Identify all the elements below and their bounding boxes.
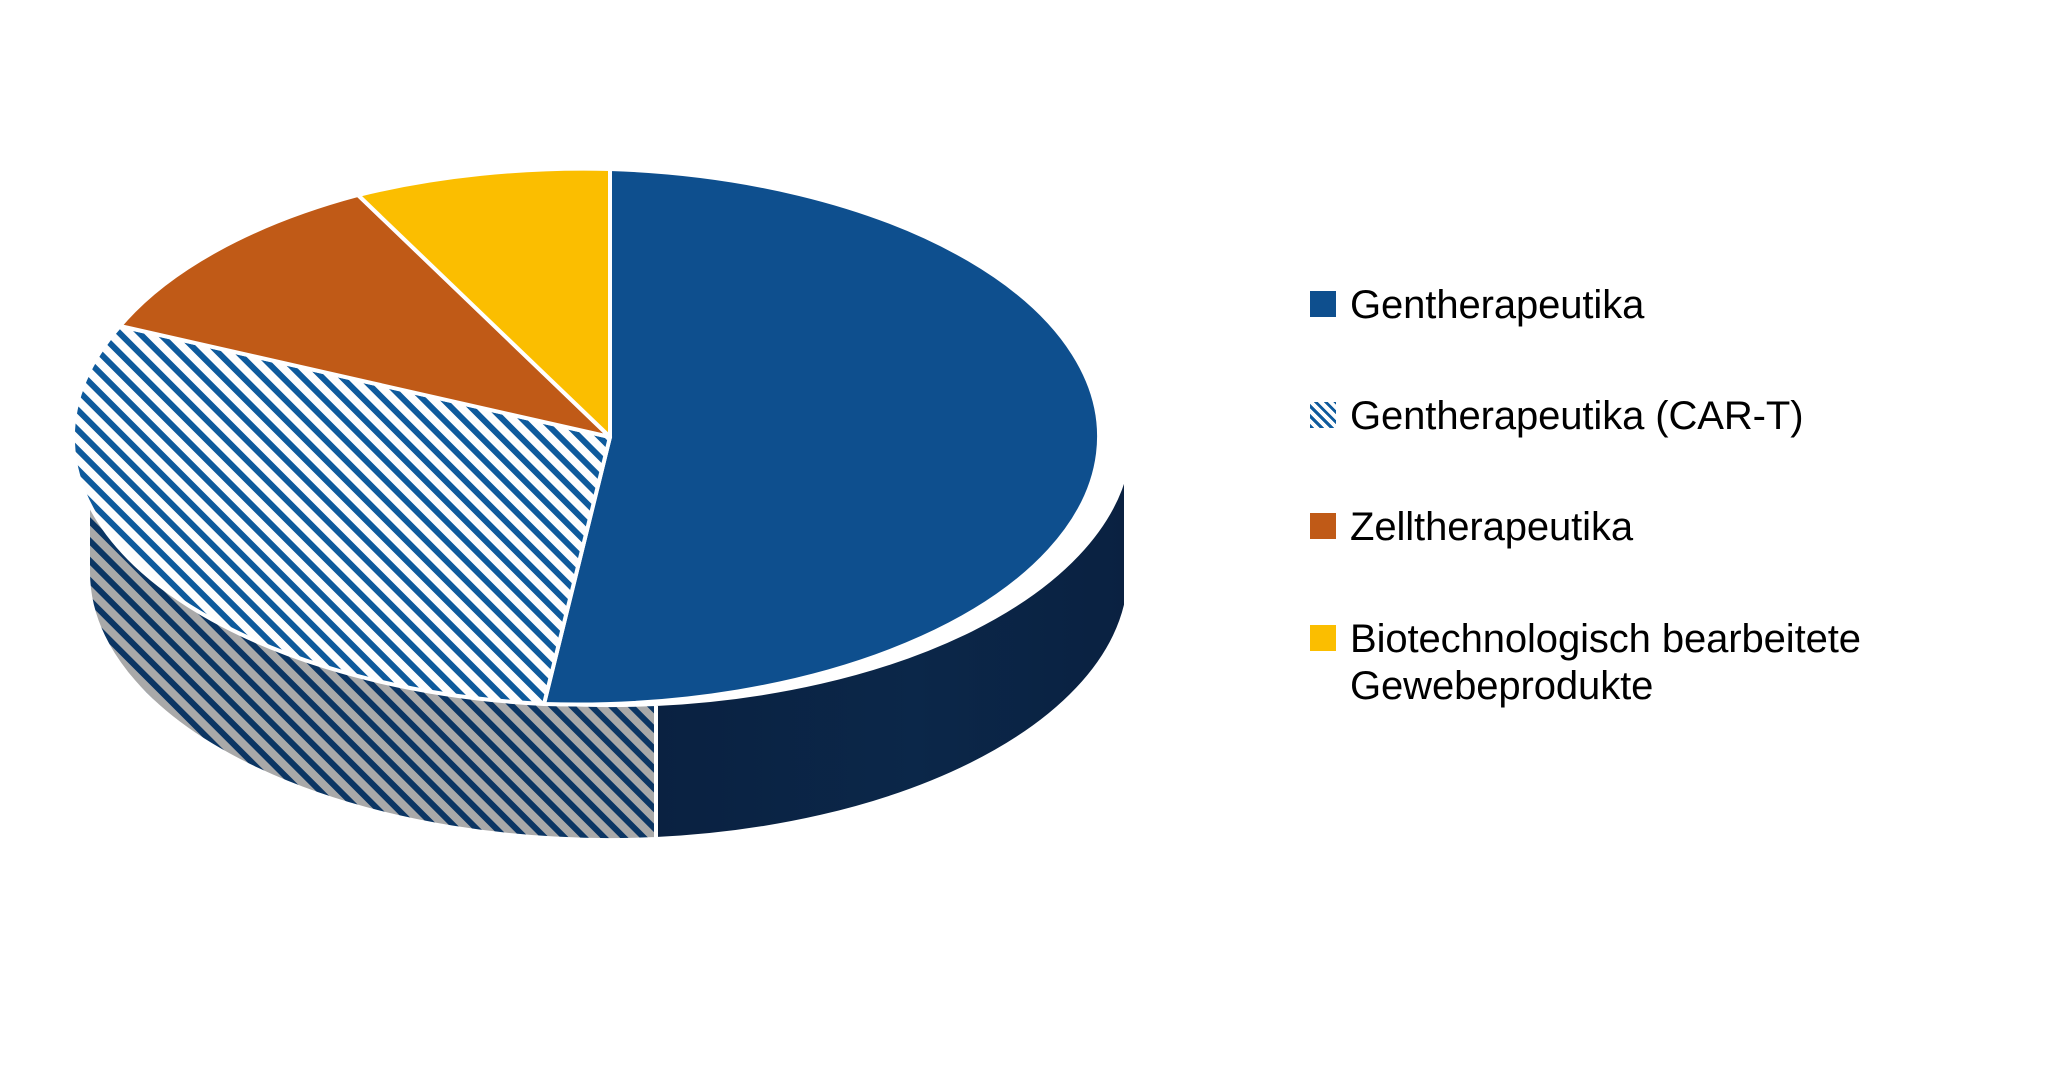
legend-item-zelltherapeutika[interactable]: Zelltherapeutika [1310,504,2010,551]
legend-label-gentherapeutika: Gentherapeutika [1350,282,1644,329]
legend-swatch-solid-orange-icon [1310,513,1336,539]
chart-page: Gentherapeutika Gentherapeutika (CAR-T) … [0,0,2069,1090]
legend-swatch-solid-blue-icon [1310,291,1336,317]
pie-chart-figure [0,0,1260,1090]
legend-item-gentherapeutika[interactable]: Gentherapeutika [1310,282,2010,329]
legend-label-gewebeprodukte: Biotechnologisch bearbeitete Gewebeprodu… [1350,616,1861,710]
chart-legend: Gentherapeutika Gentherapeutika (CAR-T) … [1310,282,2010,710]
legend-swatch-solid-yellow-icon [1310,625,1336,651]
legend-item-gentherapeutika-car-t[interactable]: Gentherapeutika (CAR-T) [1310,393,2010,440]
pie-chart-svg [0,0,1260,1090]
legend-label-gentherapeutika-car-t: Gentherapeutika (CAR-T) [1350,393,1803,440]
pie-top-faces [73,169,1099,705]
legend-swatch-hatched-blue-icon [1310,402,1336,428]
legend-label-zelltherapeutika: Zelltherapeutika [1350,504,1633,551]
legend-item-gewebeprodukte[interactable]: Biotechnologisch bearbeitete Gewebeprodu… [1310,616,2010,710]
